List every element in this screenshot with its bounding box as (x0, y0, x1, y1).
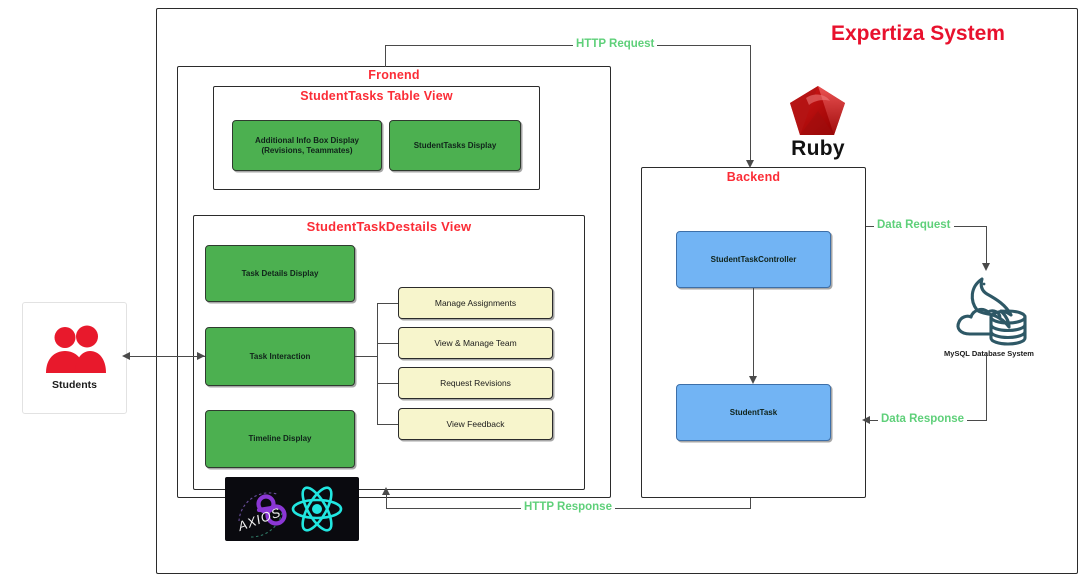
task-interaction-node[interactable]: Task Interaction (205, 327, 355, 386)
students-outbound-arrowhead (197, 352, 205, 360)
request-revisions-node[interactable]: Request Revisions (398, 367, 553, 399)
studenttaskdetails-view-caption: StudentTaskDestails View (193, 219, 585, 234)
page-title: Expertiza System (831, 22, 1005, 46)
http-request-arrowhead (746, 160, 754, 168)
data-request-arrowhead (982, 263, 990, 271)
data-response-label: Data Response (878, 413, 967, 425)
backend-caption: Backend (641, 170, 866, 184)
tree-branch-4 (377, 424, 398, 425)
view-manage-team-label: View & Manage Team (434, 338, 516, 349)
students-frontend-line (127, 356, 205, 357)
controller-to-model-line (753, 288, 754, 376)
additional-info-line2: (Revisions, Teammates) (261, 146, 352, 155)
http-response-arrowhead (382, 487, 390, 495)
tree-stub (355, 356, 378, 357)
architecture-diagram: Expertiza System Students Fronend Studen… (0, 0, 1087, 587)
students-label: Students (52, 379, 97, 391)
view-manage-team-node[interactable]: View & Manage Team (398, 327, 553, 359)
mysql-label: MySQL Database System (944, 349, 1034, 358)
studenttaskcontroller-node[interactable]: StudentTaskController (676, 231, 831, 288)
http-response-riser (386, 494, 387, 509)
tree-trunk (377, 303, 378, 424)
data-response-riser (986, 352, 987, 421)
controller-to-model-arrowhead (749, 376, 757, 384)
data-response-arrowhead (862, 416, 870, 424)
ruby-gem-icon (788, 85, 848, 139)
http-response-label: HTTP Response (521, 501, 615, 513)
studenttasks-display-label: StudentTasks Display (414, 141, 497, 151)
timeline-display-node[interactable]: Timeline Display (205, 410, 355, 468)
tree-branch-1 (377, 303, 398, 304)
studenttasks-display-node[interactable]: StudentTasks Display (389, 120, 521, 171)
http-request-riser (385, 45, 386, 67)
request-revisions-label: Request Revisions (440, 378, 511, 389)
view-feedback-label: View Feedback (447, 419, 505, 430)
task-details-display-node[interactable]: Task Details Display (205, 245, 355, 302)
mysql-database: MySQL Database System (930, 270, 1048, 370)
mysql-dolphin-icon (946, 270, 1032, 348)
view-feedback-node[interactable]: View Feedback (398, 408, 553, 440)
axios-react-logo-card: AXIOS (225, 477, 359, 541)
http-request-label: HTTP Request (573, 38, 657, 50)
studenttasks-table-view-caption: StudentTasks Table View (213, 89, 540, 103)
timeline-display-label: Timeline Display (249, 434, 312, 444)
react-atom-icon (293, 484, 341, 535)
studenttask-node[interactable]: StudentTask (676, 384, 831, 441)
data-request-drop (986, 226, 987, 263)
students-inbound-arrowhead (122, 352, 130, 360)
tree-branch-2 (377, 343, 398, 344)
additional-info-line1: Additional Info Box Display (255, 136, 359, 145)
http-request-line (385, 45, 751, 46)
students-actor: Students (22, 302, 127, 414)
ruby-label: Ruby (791, 137, 845, 161)
additional-info-box-display-node[interactable]: Additional Info Box Display (Revisions, … (232, 120, 382, 171)
ruby-logo: Ruby (766, 85, 870, 165)
data-request-label: Data Request (874, 219, 954, 231)
studenttask-label: StudentTask (730, 408, 777, 418)
task-details-display-label: Task Details Display (242, 269, 319, 279)
manage-assignments-node[interactable]: Manage Assignments (398, 287, 553, 319)
students-icon (42, 325, 108, 375)
studenttaskcontroller-label: StudentTaskController (711, 255, 797, 265)
frontend-caption: Fronend (177, 68, 611, 82)
task-interaction-label: Task Interaction (250, 352, 311, 362)
tree-branch-3 (377, 383, 398, 384)
http-request-drop (750, 45, 751, 160)
manage-assignments-label: Manage Assignments (435, 298, 516, 309)
